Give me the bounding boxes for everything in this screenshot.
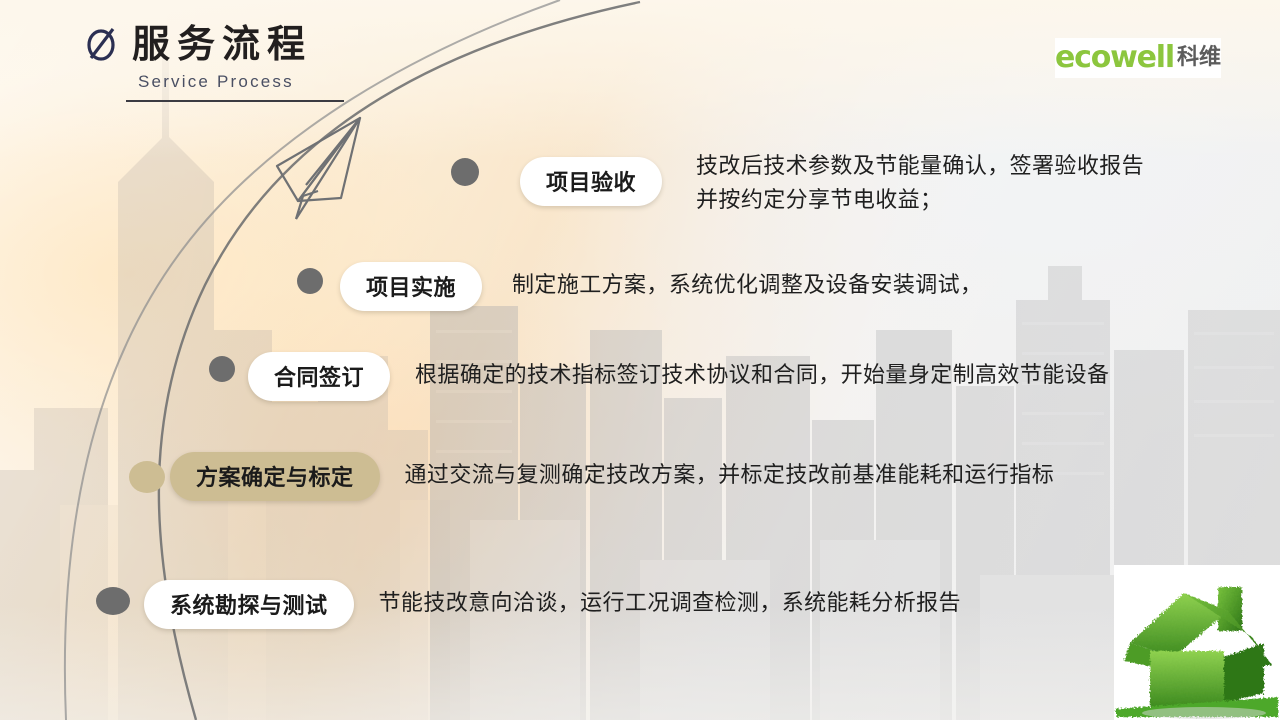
process-step-1[interactable]: 项目验收 技改后技术参数及节能量确认，签署验收报告 并按约定分享节电收益； [520, 150, 1144, 218]
process-step-3[interactable]: 合同签订 根据确定的技术指标签订技术协议和合同，开始量身定制高效节能设备 [248, 352, 1109, 401]
slide-canvas: 服务流程 Service Process ecowell 科维 项目验收 技改后… [0, 0, 1280, 720]
step-description-4: 通过交流与复测确定技改方案，并标定技改前基准能耗和运行指标 [405, 459, 1055, 493]
step-description-3: 根据确定的技术指标签订技术协议和合同，开始量身定制高效节能设备 [415, 359, 1109, 393]
logo-chinese-name: 科维 [1177, 47, 1221, 69]
step-label-5[interactable]: 系统勘探与测试 [144, 580, 354, 629]
process-step-4[interactable]: 方案确定与标定 通过交流与复测确定技改方案，并标定技改前基准能耗和运行指标 [170, 452, 1054, 501]
step-description-5: 节能技改意向洽谈，运行工况调查检测，系统能耗分析报告 [379, 587, 961, 621]
step-label-1[interactable]: 项目验收 [520, 157, 662, 206]
step-description-1: 技改后技术参数及节能量确认，签署验收报告 并按约定分享节电收益； [696, 150, 1144, 218]
slashed-circle-icon [84, 22, 118, 66]
green-house-image [1114, 565, 1280, 720]
process-step-2[interactable]: 项目实施 制定施工方案，系统优化调整及设备安装调试， [340, 262, 982, 311]
step-description-2: 制定施工方案，系统优化调整及设备安装调试， [512, 269, 982, 303]
page-title: 服务流程 [132, 24, 312, 64]
green-grass-house-icon [1114, 565, 1280, 720]
step-label-4[interactable]: 方案确定与标定 [170, 452, 380, 501]
step-label-3[interactable]: 合同签订 [248, 352, 390, 401]
page-subtitle: Service Process [138, 72, 344, 92]
title-underline [126, 100, 344, 102]
step-label-2[interactable]: 项目实施 [340, 262, 482, 311]
logo-wordmark: ecowell [1055, 43, 1174, 73]
page-header: 服务流程 Service Process [84, 22, 344, 102]
process-step-5[interactable]: 系统勘探与测试 节能技改意向洽谈，运行工况调查检测，系统能耗分析报告 [144, 580, 961, 629]
brand-logo: ecowell 科维 [1055, 38, 1221, 78]
